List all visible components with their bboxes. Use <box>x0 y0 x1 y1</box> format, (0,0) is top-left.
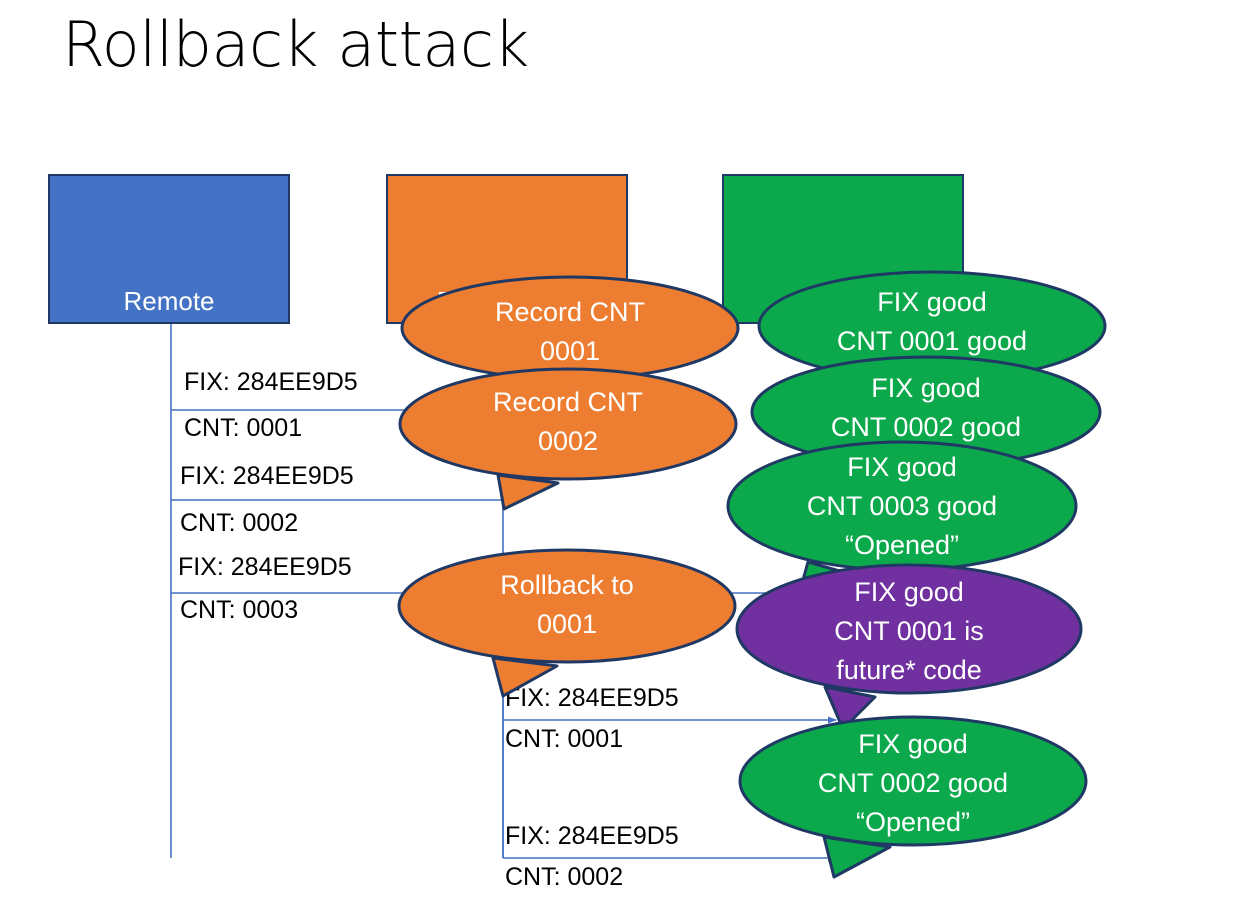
callout-receiver-cnt-0003-opened[interactable]: FIX good CNT 0003 good “Opened” <box>726 440 1078 568</box>
message-label-m4-cnt: CNT: 0001 <box>505 725 623 754</box>
callout-flipper-rollback-0001[interactable]: Rollback to 0001 <box>397 548 737 666</box>
message-label-m3-fix: FIX: 284EE9D5 <box>178 553 352 582</box>
callout-shape <box>740 717 1086 877</box>
callout-shape <box>399 550 735 696</box>
actor-box-remote[interactable]: Remote <box>48 174 290 324</box>
message-label-m2-cnt: CNT: 0002 <box>180 509 298 538</box>
callout-shape <box>737 565 1081 729</box>
actor-label-remote: Remote <box>123 287 214 316</box>
callout-receiver-cnt-0001-future[interactable]: FIX good CNT 0001 is future* code <box>735 563 1083 695</box>
message-label-m1-cnt: CNT: 0001 <box>184 414 302 443</box>
callout-receiver-cnt-0002-opened[interactable]: FIX good CNT 0002 good “Opened” <box>738 715 1088 845</box>
callout-shape <box>400 369 736 509</box>
slide-canvas: Rollback attack Remote Flipper Zero <box>0 0 1233 898</box>
message-label-m5-cnt: CNT: 0002 <box>505 863 623 892</box>
callout-flipper-record-0002[interactable]: Record CNT 0002 <box>398 367 738 482</box>
callout-flipper-record-0001[interactable]: Record CNT 0001 <box>400 275 740 380</box>
message-label-m1-fix: FIX: 284EE9D5 <box>184 368 358 397</box>
message-label-m2-fix: FIX: 284EE9D5 <box>180 462 354 491</box>
message-label-m5-fix: FIX: 284EE9D5 <box>505 822 679 851</box>
message-label-m3-cnt: CNT: 0003 <box>180 596 298 625</box>
